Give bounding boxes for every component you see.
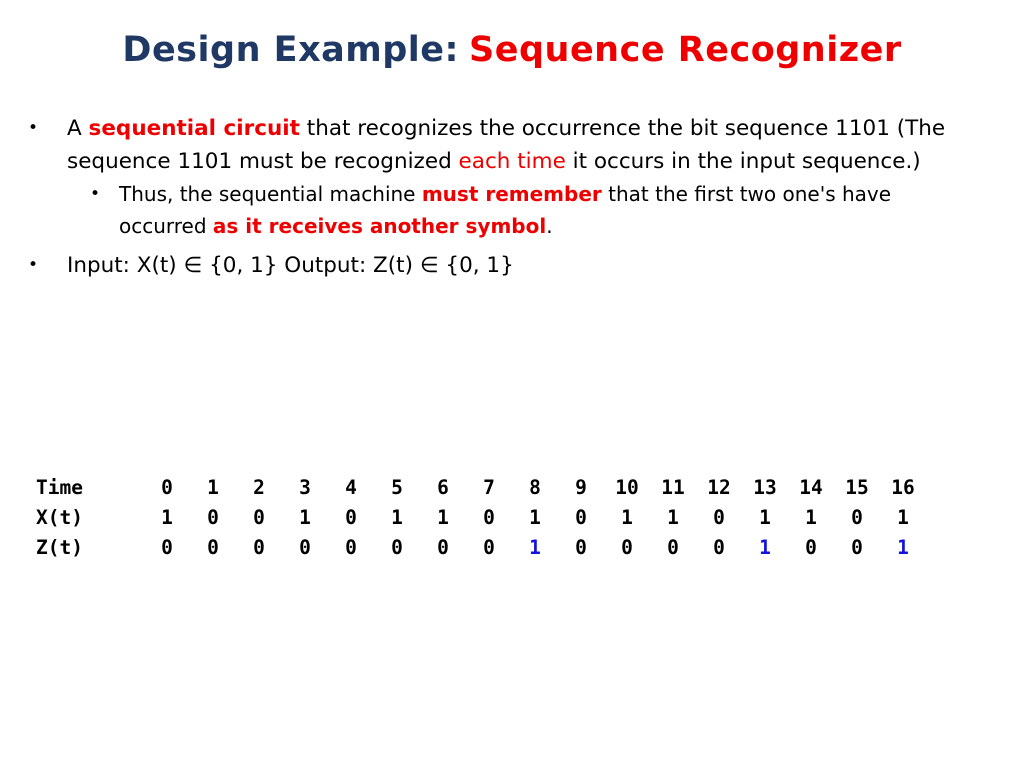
bullet-text: Thus, the sequential machine must rememb… (119, 178, 1024, 242)
timing-cell: 0 (558, 502, 604, 532)
bullet-item-level2: •Thus, the sequential machine must remem… (0, 178, 1024, 242)
timing-cell: 0 (328, 532, 374, 562)
timing-cell: 0 (466, 502, 512, 532)
timing-row-label: Z(t) (36, 532, 144, 562)
timing-cell: 1 (144, 502, 190, 532)
timing-cell: 7 (466, 472, 512, 502)
bullet-text-segment: Thus, the sequential machine (119, 182, 422, 206)
timing-cell: 1 (788, 502, 834, 532)
timing-cell: 2 (236, 472, 282, 502)
page-title: Design Example:Sequence Recognizer (0, 30, 1024, 70)
timing-cell: 11 (650, 472, 696, 502)
bullet-item-level1: •A sequential circuit that recognizes th… (0, 112, 1024, 178)
timing-cell: 1 (650, 502, 696, 532)
timing-row-zt: Z(t)00000000100001001 (36, 532, 926, 562)
bullet-text-segment: must remember (422, 182, 602, 206)
slide-body: •A sequential circuit that recognizes th… (0, 112, 1024, 282)
timing-cell: 0 (420, 532, 466, 562)
timing-cell: 12 (696, 472, 742, 502)
timing-row-xt: X(t)10010110101101101 (36, 502, 926, 532)
timing-row-label: X(t) (36, 502, 144, 532)
timing-table-body: Time012345678910111213141516X(t)10010110… (36, 472, 926, 562)
timing-cell: 1 (742, 502, 788, 532)
bullet-list: •A sequential circuit that recognizes th… (0, 112, 1024, 282)
timing-cell: 0 (558, 532, 604, 562)
bullet-text-segment: Input: X(t) ∈ {0, 1} Output: Z(t) ∈ {0, … (67, 253, 514, 278)
timing-cell: 0 (236, 532, 282, 562)
bullet-item-level1: •Input: X(t) ∈ {0, 1} Output: Z(t) ∈ {0,… (0, 249, 1024, 282)
timing-cell: 15 (834, 472, 880, 502)
timing-table: Time012345678910111213141516X(t)10010110… (36, 472, 926, 562)
timing-cell: 1 (374, 502, 420, 532)
timing-cell: 5 (374, 472, 420, 502)
timing-cell: 0 (834, 502, 880, 532)
timing-cell: 0 (834, 532, 880, 562)
timing-cell: 0 (466, 532, 512, 562)
bullet-text-segment: each time (459, 149, 566, 174)
bullet-text: A sequential circuit that recognizes the… (67, 112, 1019, 178)
timing-cell: 0 (282, 532, 328, 562)
timing-cell: 0 (190, 502, 236, 532)
timing-cell: 1 (742, 532, 788, 562)
timing-cell: 1 (282, 502, 328, 532)
bullet-text-segment: A (67, 116, 89, 141)
bullet-marker-icon: • (90, 178, 119, 210)
timing-cell: 1 (880, 502, 926, 532)
timing-cell: 13 (742, 472, 788, 502)
bullet-text: Input: X(t) ∈ {0, 1} Output: Z(t) ∈ {0, … (67, 249, 1019, 282)
timing-cell: 0 (696, 502, 742, 532)
timing-row-time: Time012345678910111213141516 (36, 472, 926, 502)
bullet-marker-icon: • (28, 249, 67, 282)
timing-cell: 1 (512, 502, 558, 532)
page-title-accent: Sequence Recognizer (469, 30, 902, 70)
timing-cell: 8 (512, 472, 558, 502)
timing-cell: 0 (144, 472, 190, 502)
timing-cell: 14 (788, 472, 834, 502)
timing-row-label: Time (36, 472, 144, 502)
timing-cell: 4 (328, 472, 374, 502)
timing-cell: 1 (190, 472, 236, 502)
bullet-text-segment: . (546, 214, 552, 238)
timing-cell: 1 (880, 532, 926, 562)
timing-cell: 0 (190, 532, 236, 562)
timing-cell: 0 (328, 502, 374, 532)
bullet-text-segment: it occurs in the input sequence.) (566, 149, 921, 174)
timing-cell: 0 (604, 532, 650, 562)
timing-cell: 1 (420, 502, 466, 532)
timing-cell: 1 (604, 502, 650, 532)
bullet-text-segment: as it receives another symbol (213, 214, 546, 238)
bullet-marker-icon: • (28, 112, 67, 145)
timing-cell: 3 (282, 472, 328, 502)
timing-cell: 0 (696, 532, 742, 562)
timing-cell: 9 (558, 472, 604, 502)
bullet-spacer (0, 242, 1024, 249)
bullet-text-segment: sequential circuit (89, 116, 300, 141)
timing-cell: 0 (236, 502, 282, 532)
timing-cell: 16 (880, 472, 926, 502)
timing-cell: 10 (604, 472, 650, 502)
timing-cell: 0 (650, 532, 696, 562)
timing-cell: 6 (420, 472, 466, 502)
timing-cell: 0 (374, 532, 420, 562)
timing-cell: 0 (144, 532, 190, 562)
timing-cell: 0 (788, 532, 834, 562)
timing-cell: 1 (512, 532, 558, 562)
page-title-main: Design Example: (122, 30, 459, 70)
